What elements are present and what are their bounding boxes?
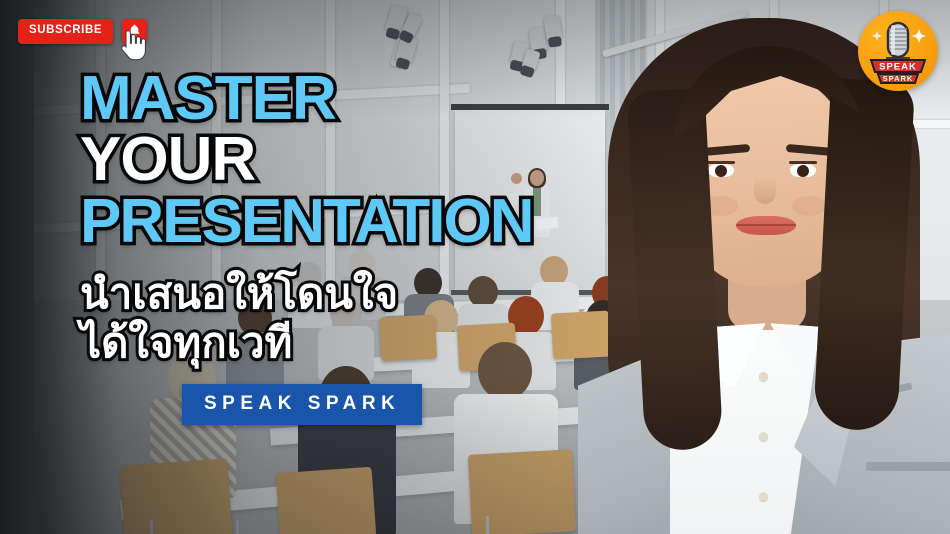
left-edge-bar	[0, 0, 34, 534]
retro-microphone-icon: SPEAK SPARK	[858, 11, 938, 91]
subscribe-widget[interactable]: SUBSCRIBE	[18, 19, 147, 44]
subscribe-button[interactable]: SUBSCRIBE	[18, 19, 113, 44]
svg-text:SPARK: SPARK	[883, 74, 914, 83]
headline-line-2: YOUR	[80, 133, 533, 186]
headline-line-1: MASTER	[80, 72, 533, 125]
subheadline-line-1: นำเสนอให้โดนใจ	[80, 270, 533, 317]
brand-badge[interactable]: SPEAK SPARK	[182, 384, 422, 425]
svg-text:SPEAK: SPEAK	[879, 62, 917, 73]
headline-line-3: PRESENTATION	[80, 195, 533, 248]
headline-block: MASTER YOUR PRESENTATION นำเสนอให้โดนใจ …	[80, 72, 533, 425]
notification-bell-button[interactable]	[122, 19, 147, 44]
youtube-thumbnail: SUBSCRIBE	[0, 0, 950, 534]
speak-spark-logo[interactable]: SPEAK SPARK	[858, 11, 938, 91]
bell-icon	[128, 23, 141, 40]
subheadline-line-2: ได้ใจทุกเวที	[80, 319, 533, 366]
